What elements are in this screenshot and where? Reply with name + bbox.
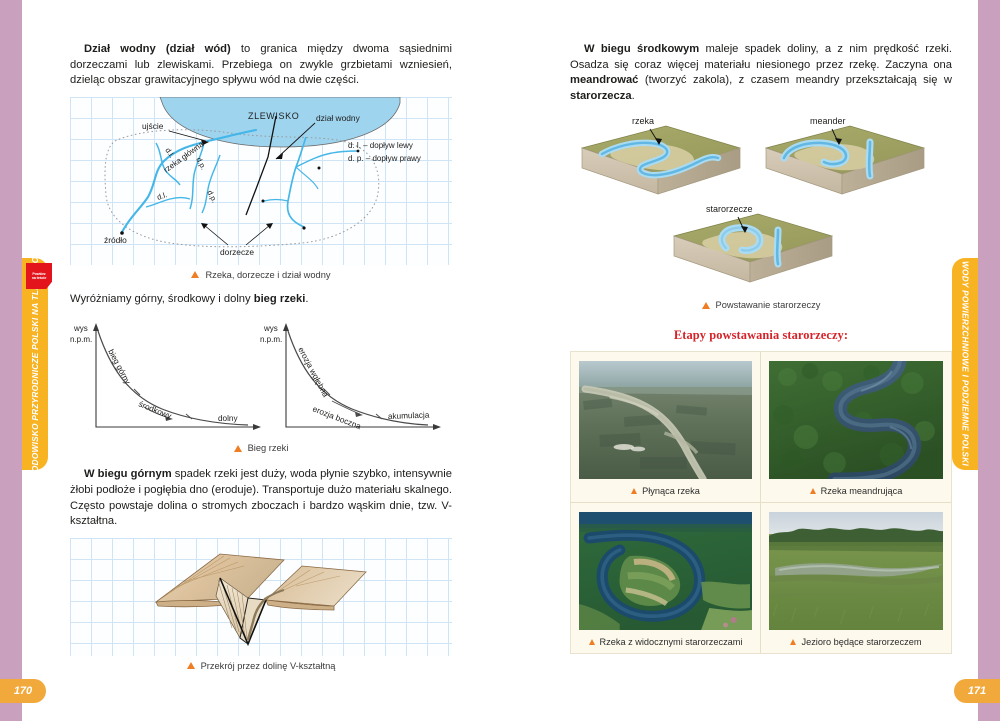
- paragraph-bieg-gornym: W biegu górnym spadek rzeki jest duży, w…: [70, 467, 452, 529]
- triangle-bullet-icon: [589, 639, 595, 645]
- figure-dolina-v-ksztaltna: [70, 538, 452, 656]
- figure2-caption-text: Bieg rzeki: [248, 443, 289, 453]
- gallery-cell[interactable]: Jezioro będące starorzeczem: [761, 503, 951, 653]
- figure3-svg: [70, 538, 452, 656]
- triangle-bullet-icon: [191, 271, 199, 278]
- triangle-bullet-icon: [234, 445, 242, 452]
- spring-dot-4: [302, 226, 305, 229]
- doplyw-lewy-2: [146, 197, 190, 207]
- page-number-left: 170: [0, 679, 46, 703]
- label-rzeka: rzeka: [632, 116, 654, 126]
- chart-left-label-bieg-gorny: bieg górny: [106, 348, 132, 387]
- gallery-caption-text: Płynąca rzeka: [642, 486, 700, 496]
- figure-bieg-rzeki: wys n.p.m. bieg górny środkowy dolny: [70, 315, 452, 445]
- paragraph-bieg-gornym-lead: W biegu górnym: [84, 468, 172, 480]
- gallery-caption-row: Rzeka meandrująca: [810, 486, 903, 496]
- chart-right-label-akumulacja: akumulacja: [388, 411, 430, 421]
- triangle-bullet-icon: [187, 662, 195, 669]
- gallery-caption-text: Rzeka z widocznymi starorzeczami: [600, 637, 743, 647]
- paragraph-bieg-rzeki-bold: bieg rzeki: [254, 293, 306, 305]
- page-number-right: 171: [954, 679, 1000, 703]
- paragraph-bieg-srodkowym-part3: .: [632, 90, 635, 102]
- oxbow-figure-caption-row: Powstawanie starorzeczy: [570, 300, 952, 310]
- paragraph-bieg-rzeki: Wyróżniamy górny, środkowy i dolny bieg …: [70, 292, 452, 308]
- legend-doplyw-lewy: d. l. – dopływ lewy: [348, 141, 413, 150]
- photo4-svg: [769, 512, 943, 630]
- spring-dot-2: [318, 166, 321, 169]
- review-sticker[interactable]: Powtórz na teście: [26, 263, 52, 289]
- triangle-bullet-icon: [631, 488, 637, 494]
- chart-right-x-arrow: [433, 424, 441, 430]
- paragraph-bieg-srodkowym-bold2: meandrować: [570, 74, 638, 86]
- photo-plynaca-rzeka: [579, 361, 752, 479]
- legend-doplyw-prawy: d. p. – dopływ prawy: [348, 154, 421, 163]
- label-dzial-wodny: dział wodny: [316, 113, 361, 123]
- dorzecze-leader-right: [246, 225, 270, 245]
- oxbow-figure-svg: rzeka meander: [570, 112, 952, 300]
- rzeka-prawa: [288, 137, 306, 227]
- dorzecze-leader-left: [204, 225, 228, 245]
- gallery-caption-row: Rzeka z widocznymi starorzeczami: [589, 637, 743, 647]
- photo-rzeka-meandrujaca: [769, 361, 943, 479]
- gallery-heading: Etapy powstawania starorzeczy:: [570, 328, 952, 343]
- figure3-caption-row: Przekrój przez dolinę V-kształtną: [70, 661, 452, 671]
- gallery-cell[interactable]: Rzeka z widocznymi starorzeczami: [571, 503, 761, 653]
- chart-bieg-rzeki-right: wys n.p.m. erozja wgłębna erozja boczna …: [260, 323, 441, 431]
- triangle-bullet-icon: [810, 488, 816, 494]
- chart-right-ylabel-line1: wys: [263, 324, 278, 333]
- label-zrodlo: źródło: [104, 235, 127, 245]
- chart-bieg-rzeki-left: wys n.p.m. bieg górny środkowy dolny: [70, 323, 261, 430]
- review-sticker-line2: na teście: [32, 276, 46, 280]
- oxbow-block-3: starorzecze: [674, 204, 832, 282]
- figure3-caption-text: Przekrój przez dolinę V-kształtną: [201, 661, 336, 671]
- left-page-column: Dział wodny (dział wód) to granica międz…: [70, 42, 452, 671]
- chapter-tab-right[interactable]: WODY POWIERZCHNIOWE I PODZIEMNE POLSKI: [952, 258, 978, 470]
- photo-rzeka-ze-starorzeczami: [579, 512, 752, 630]
- figure1-svg: ZLEWISKO dział wodny ujście d.l. d.l. d.…: [70, 97, 452, 265]
- valley-right-plateau-top: [266, 566, 366, 606]
- paragraph-bieg-rzeki-after: .: [305, 293, 308, 305]
- label-ujscie: ujście: [142, 121, 164, 131]
- label-dp-2: d.p.: [205, 188, 219, 203]
- label-starorzecze: starorzecze: [706, 204, 753, 214]
- rzeka-glowna-line: [122, 130, 256, 232]
- label-dp-1: d.p.: [194, 155, 208, 170]
- paragraph-bieg-srodkowym-bold3: starorzecza: [570, 90, 632, 102]
- chart-left-label-srodkowy: środkowy: [137, 400, 173, 422]
- chart-right-y-arrow: [283, 323, 289, 331]
- dorzecze-arrowhead-right: [266, 223, 273, 229]
- page-edge-strip-left: [0, 0, 22, 721]
- dorzecze-boundary: [105, 130, 379, 247]
- photo-jezioro-starorzecze: [769, 512, 943, 630]
- paragraph-bieg-rzeki-before: Wyróżniamy górny, środkowy i dolny: [70, 293, 254, 305]
- triangle-bullet-icon: [790, 639, 796, 645]
- chart-left-y-arrow: [93, 323, 99, 331]
- triangle-bullet-icon: [702, 302, 710, 309]
- gallery-cell[interactable]: Rzeka meandrująca: [761, 352, 951, 503]
- chart-left-x-arrow: [253, 424, 261, 430]
- photo1-svg: [579, 361, 752, 479]
- chart-left-label-dolny: dolny: [218, 414, 238, 423]
- page-edge-strip-right: [978, 0, 1000, 721]
- figure1-caption-row: Rzeka, dorzecze i dział wodny: [70, 270, 452, 280]
- gallery-caption-row: Płynąca rzeka: [631, 486, 700, 496]
- gallery-caption-row: Jezioro będące starorzeczem: [790, 637, 921, 647]
- figure2-svg: wys n.p.m. bieg górny środkowy dolny: [70, 315, 452, 445]
- oxbow-figure-caption-text: Powstawanie starorzeczy: [716, 300, 821, 310]
- label-zlewisko: ZLEWISKO: [248, 111, 299, 121]
- chart-right-ylabel-line2: n.p.m.: [260, 335, 282, 344]
- figure-powstawanie-starorzeczy: rzeka meander: [570, 112, 952, 300]
- dorzecze-arrowhead-left: [201, 223, 208, 229]
- photo3-svg: [579, 512, 752, 630]
- figure-rzeka-dorzecze-dzial-wodny: ZLEWISKO dział wodny ujście d.l. d.l. d.…: [70, 97, 452, 265]
- paragraph-bieg-srodkowym-part2: (tworzyć zakola), z czasem meandry przek…: [638, 74, 952, 86]
- label-meander: meander: [810, 116, 846, 126]
- rzeka-prawa-doplyw-2: [264, 199, 288, 201]
- photo-gallery: Płynąca rzeka: [570, 351, 952, 654]
- chapter-tab-right-label: WODY POWIERZCHNIOWE I PODZIEMNE POLSKI: [961, 261, 970, 466]
- label-dorzecze: dorzecze: [220, 247, 254, 257]
- oxbow-block-1: rzeka: [582, 116, 740, 194]
- rzeka-prawa-doplyw-3: [296, 167, 318, 189]
- photo2-svg: [769, 361, 943, 479]
- paragraph-dzial-wodny: Dział wodny (dział wód) to granica międz…: [70, 42, 452, 89]
- block2-new-channel-core: [869, 142, 870, 176]
- chart-left-axes: [96, 329, 255, 427]
- spring-dot-3: [262, 199, 265, 202]
- gallery-cell[interactable]: Płynąca rzeka: [571, 352, 761, 503]
- figure1-caption-text: Rzeka, dorzecze i dział wodny: [205, 270, 330, 280]
- chart-left-ylabel-line2: n.p.m.: [70, 335, 92, 344]
- gallery-caption-text: Jezioro będące starorzeczem: [801, 637, 921, 647]
- paragraph-bieg-srodkowym-lead: W biegu środkowym: [584, 43, 699, 55]
- chapter-tab-left[interactable]: ŚRODOWISKO PRZYRODNICZE POLSKI NA TLE EU…: [22, 258, 48, 470]
- oxbow-block-2: meander: [766, 116, 924, 194]
- chart-left-ylabel-line1: wys: [73, 324, 88, 333]
- book-spread: Dział wodny (dział wód) to granica międz…: [0, 0, 1000, 721]
- block3-main-channel-core: [777, 230, 778, 264]
- spring-dot-5: [357, 149, 360, 152]
- paragraph-bieg-srodkowym: W biegu środkowym maleje spadek doliny, …: [570, 42, 952, 104]
- paragraph-dzial-wodny-lead: Dział wodny (dział wód): [84, 43, 231, 55]
- gallery-caption-text: Rzeka meandrująca: [821, 486, 903, 496]
- chart-right-label-erozja-wglebna: erozja wgłębna: [296, 346, 330, 399]
- right-page-column: W biegu środkowym maleje spadek doliny, …: [570, 42, 952, 654]
- zlewisko-area: [160, 97, 400, 147]
